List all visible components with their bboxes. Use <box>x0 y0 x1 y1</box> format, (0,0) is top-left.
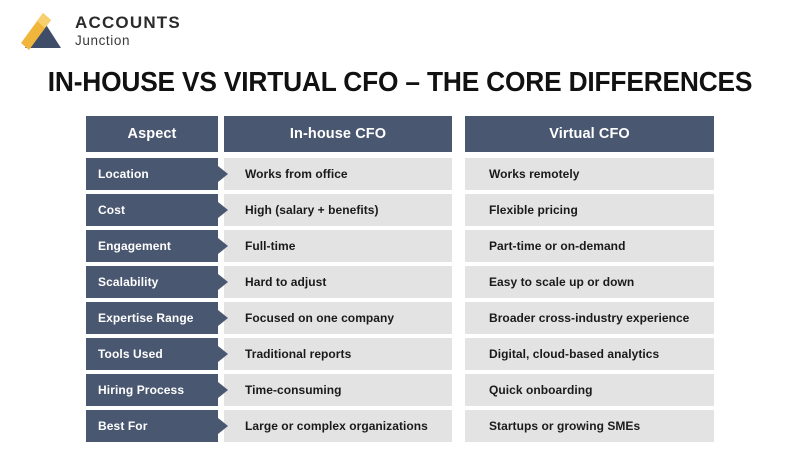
brand-wordmark: ACCOUNTS Junction <box>75 14 181 48</box>
row-virtual-value: Easy to scale up or down <box>465 266 714 298</box>
row-aspect-label: Expertise Range <box>86 302 218 334</box>
table-row: Best For Large or complex organizations … <box>86 410 714 442</box>
table-row: Scalability Hard to adjust Easy to scale… <box>86 266 714 298</box>
row-aspect-label: Cost <box>86 194 218 226</box>
column-gap <box>452 194 465 226</box>
row-virtual-value: Part-time or on-demand <box>465 230 714 262</box>
table-row: Hiring Process Time-consuming Quick onbo… <box>86 374 714 406</box>
row-virtual-value: Startups or growing SMEs <box>465 410 714 442</box>
column-header-virtual-cfo: Virtual CFO <box>465 116 714 152</box>
row-virtual-value: Broader cross-industry experience <box>465 302 714 334</box>
table-row: Cost High (salary + benefits) Flexible p… <box>86 194 714 226</box>
row-virtual-value: Flexible pricing <box>465 194 714 226</box>
table-row: Expertise Range Focused on one company B… <box>86 302 714 334</box>
brand-logo: ACCOUNTS Junction <box>20 11 181 51</box>
page-title: IN-HOUSE VS VIRTUAL CFO – THE CORE DIFFE… <box>24 66 776 98</box>
row-virtual-value: Digital, cloud-based analytics <box>465 338 714 370</box>
column-header-inhouse-cfo: In-house CFO <box>224 116 452 152</box>
table-header-row: Aspect In-house CFO Virtual CFO <box>86 116 714 152</box>
table-row: Tools Used Traditional reports Digital, … <box>86 338 714 370</box>
row-inhouse-value: Hard to adjust <box>224 266 452 298</box>
row-inhouse-value: Time-consuming <box>224 374 452 406</box>
row-inhouse-value: Traditional reports <box>224 338 452 370</box>
row-aspect-label: Hiring Process <box>86 374 218 406</box>
row-inhouse-value: High (salary + benefits) <box>224 194 452 226</box>
column-gap <box>452 410 465 442</box>
row-virtual-value: Quick onboarding <box>465 374 714 406</box>
row-inhouse-value: Full-time <box>224 230 452 262</box>
row-aspect-label: Location <box>86 158 218 190</box>
column-gap <box>452 266 465 298</box>
row-inhouse-value: Large or complex organizations <box>224 410 452 442</box>
column-gap <box>452 158 465 190</box>
brand-name: ACCOUNTS <box>75 14 181 31</box>
row-inhouse-value: Focused on one company <box>224 302 452 334</box>
column-gap <box>452 338 465 370</box>
table-row: Location Works from office Works remotel… <box>86 158 714 190</box>
column-gap <box>452 116 465 152</box>
column-gap <box>452 374 465 406</box>
row-aspect-label: Best For <box>86 410 218 442</box>
triangle-a-logo-icon <box>20 11 66 51</box>
brand-subname: Junction <box>75 34 181 48</box>
table-row: Engagement Full-time Part-time or on-dem… <box>86 230 714 262</box>
row-aspect-label: Scalability <box>86 266 218 298</box>
column-gap <box>452 230 465 262</box>
column-gap <box>452 302 465 334</box>
row-aspect-label: Engagement <box>86 230 218 262</box>
column-header-aspect: Aspect <box>86 116 218 152</box>
comparison-table: Aspect In-house CFO Virtual CFO Location… <box>86 116 714 442</box>
row-aspect-label: Tools Used <box>86 338 218 370</box>
row-virtual-value: Works remotely <box>465 158 714 190</box>
row-inhouse-value: Works from office <box>224 158 452 190</box>
